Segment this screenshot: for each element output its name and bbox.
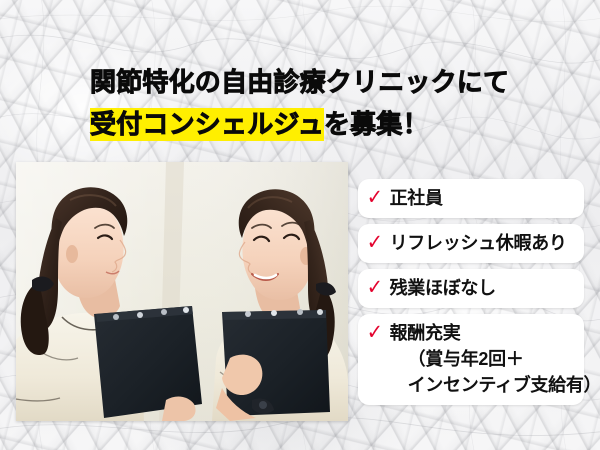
check-icon: ✓ bbox=[367, 230, 383, 256]
benefit-label-3: 残業ほぼなし bbox=[390, 275, 496, 301]
headline-highlighted-role: 受付コンシェルジュ bbox=[90, 108, 324, 141]
headline-line-2: 受付コンシェルジュを募集！ bbox=[90, 104, 510, 144]
benefit-item-3: ✓ 残業ほぼなし bbox=[358, 269, 584, 308]
headline-line-1: 関節特化の自由診療クリニックにて bbox=[90, 62, 510, 102]
check-icon: ✓ bbox=[367, 275, 383, 301]
benefit-label-1: 正社員 bbox=[390, 185, 443, 211]
check-icon: ✓ bbox=[367, 185, 383, 211]
benefit-item-4: ✓ 報酬充実 （賞与年2回＋ インセンティブ支給有） bbox=[358, 314, 584, 405]
headline: 関節特化の自由診療クリニックにて 受付コンシェルジュを募集！ bbox=[90, 62, 510, 144]
staff-photo bbox=[16, 162, 348, 421]
benefit-item-1: ✓ 正社員 bbox=[358, 179, 584, 218]
benefit-label-4-main: 報酬充実 bbox=[390, 323, 461, 343]
job-advertisement-poster: 関節特化の自由診療クリニックにて 受付コンシェルジュを募集！ bbox=[0, 0, 600, 450]
benefit-item-2: ✓ リフレッシュ休暇あり bbox=[358, 224, 584, 263]
check-icon: ✓ bbox=[367, 320, 383, 346]
benefit-label-4: 報酬充実 （賞与年2回＋ インセンティブ支給有） bbox=[390, 320, 600, 398]
benefit-label-4-sub-1: （賞与年2回＋ bbox=[390, 346, 600, 372]
benefits-list: ✓ 正社員 ✓ リフレッシュ休暇あり ✓ 残業ほぼなし ✓ 報酬充実 （賞与年2… bbox=[358, 179, 584, 411]
benefit-label-4-sub-2: インセンティブ支給有） bbox=[390, 372, 600, 398]
headline-line-2-suffix: を募集！ bbox=[324, 109, 429, 139]
benefit-label-2: リフレッシュ休暇あり bbox=[390, 230, 567, 256]
